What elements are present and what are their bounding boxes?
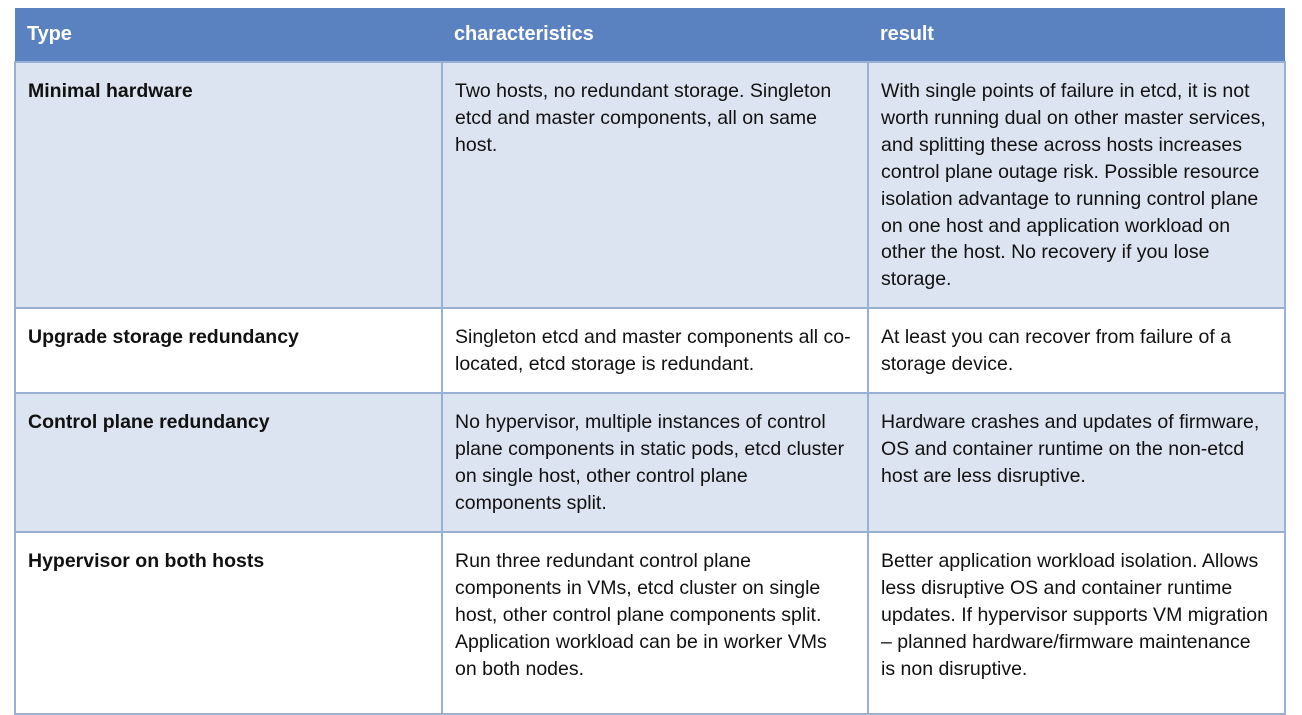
column-header-result: result bbox=[868, 8, 1285, 62]
column-header-type: Type bbox=[15, 8, 442, 62]
comparison-table-wrapper: Type characteristics result Minimal hard… bbox=[14, 8, 1284, 715]
cell-result-text: Hardware crashes and updates of firmware… bbox=[881, 409, 1268, 490]
table-header: Type characteristics result bbox=[15, 8, 1285, 62]
cell-characteristics-text: Run three redundant control plane compon… bbox=[455, 548, 851, 683]
cell-type-text: Upgrade storage redundancy bbox=[28, 324, 425, 351]
cell-type: Upgrade storage redundancy bbox=[15, 308, 442, 393]
cell-result: At least you can recover from failure of… bbox=[868, 308, 1285, 393]
cell-characteristics: Run three redundant control plane compon… bbox=[442, 532, 868, 714]
cell-result-text: Better application workload isolation. A… bbox=[881, 548, 1268, 683]
cell-result: With single points of failure in etcd, i… bbox=[868, 62, 1285, 308]
table-row: Upgrade storage redundancy Singleton etc… bbox=[15, 308, 1285, 393]
cell-type-text: Control plane redundancy bbox=[28, 409, 425, 436]
cell-result-text: With single points of failure in etcd, i… bbox=[881, 78, 1268, 293]
cell-type: Minimal hardware bbox=[15, 62, 442, 308]
cell-type: Control plane redundancy bbox=[15, 393, 442, 532]
cell-result: Better application workload isolation. A… bbox=[868, 532, 1285, 714]
cell-type-text: Minimal hardware bbox=[28, 78, 425, 105]
column-header-characteristics: characteristics bbox=[442, 8, 868, 62]
cell-type: Hypervisor on both hosts bbox=[15, 532, 442, 714]
table-row: Hypervisor on both hosts Run three redun… bbox=[15, 532, 1285, 714]
table-row: Control plane redundancy No hypervisor, … bbox=[15, 393, 1285, 532]
cell-characteristics-text: Two hosts, no redundant storage. Singlet… bbox=[455, 78, 851, 159]
cell-result-text: At least you can recover from failure of… bbox=[881, 324, 1268, 378]
cell-characteristics-text: Singleton etcd and master components all… bbox=[455, 324, 851, 378]
cell-type-text: Hypervisor on both hosts bbox=[28, 548, 425, 575]
deployment-comparison-table: Type characteristics result Minimal hard… bbox=[14, 8, 1286, 715]
cell-result: Hardware crashes and updates of firmware… bbox=[868, 393, 1285, 532]
cell-characteristics: Singleton etcd and master components all… bbox=[442, 308, 868, 393]
table-body: Minimal hardware Two hosts, no redundant… bbox=[15, 62, 1285, 714]
cell-characteristics: No hypervisor, multiple instances of con… bbox=[442, 393, 868, 532]
cell-characteristics: Two hosts, no redundant storage. Singlet… bbox=[442, 62, 868, 308]
table-header-row: Type characteristics result bbox=[15, 8, 1285, 62]
page-root: Type characteristics result Minimal hard… bbox=[0, 0, 1302, 708]
cell-characteristics-text: No hypervisor, multiple instances of con… bbox=[455, 409, 851, 517]
table-row: Minimal hardware Two hosts, no redundant… bbox=[15, 62, 1285, 308]
